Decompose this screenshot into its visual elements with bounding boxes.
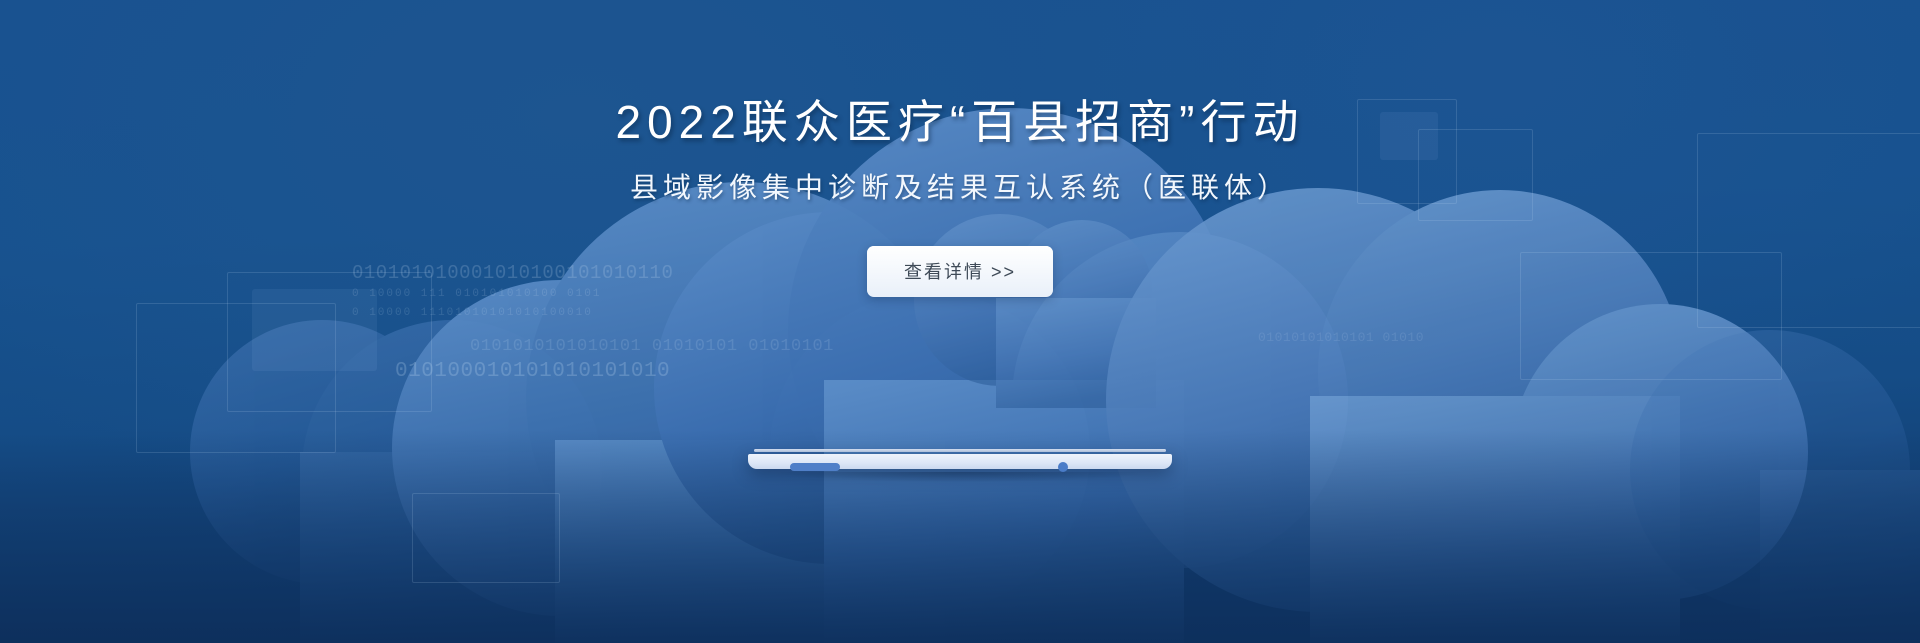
view-details-button[interactable]: 查看详情 >>	[867, 246, 1053, 297]
binary-text-3: 0 10000 11101010101010100010	[352, 307, 593, 319]
laptop-shadow	[776, 472, 1144, 482]
banner-copy: 2022联众医疗“百县招商”行动 县域影像集中诊断及结果互认系统（医联体） 查看…	[0, 0, 1920, 297]
binary-text-6: 01010101010101 01010	[1258, 330, 1424, 345]
cloud-far-left	[190, 320, 602, 643]
banner-subtitle: 县域影像集中诊断及结果互认系统（医联体）	[0, 171, 1920, 205]
laptop-base-illustration	[748, 449, 1172, 475]
banner-title: 2022联众医疗“百县招商”行动	[0, 97, 1920, 149]
promo-banner: 010101010001010100101010110 0 10000 111 …	[0, 0, 1920, 643]
deco-rect-bottom-left	[412, 493, 560, 583]
cta-row: 查看详情 >>	[0, 246, 1920, 297]
laptop-hinge	[754, 449, 1166, 452]
deco-square-left	[252, 289, 377, 371]
deco-rect-left-lower	[136, 303, 336, 453]
binary-text-4: 0101010101010101 01010101 01010101	[470, 337, 834, 356]
laptop-trackpad-notch	[790, 463, 840, 471]
cloud-far-right	[1630, 330, 1920, 643]
laptop-indicator-dot	[1058, 462, 1068, 472]
laptop-body	[748, 454, 1172, 469]
binary-text-5: 010100010101010101010	[395, 360, 670, 383]
